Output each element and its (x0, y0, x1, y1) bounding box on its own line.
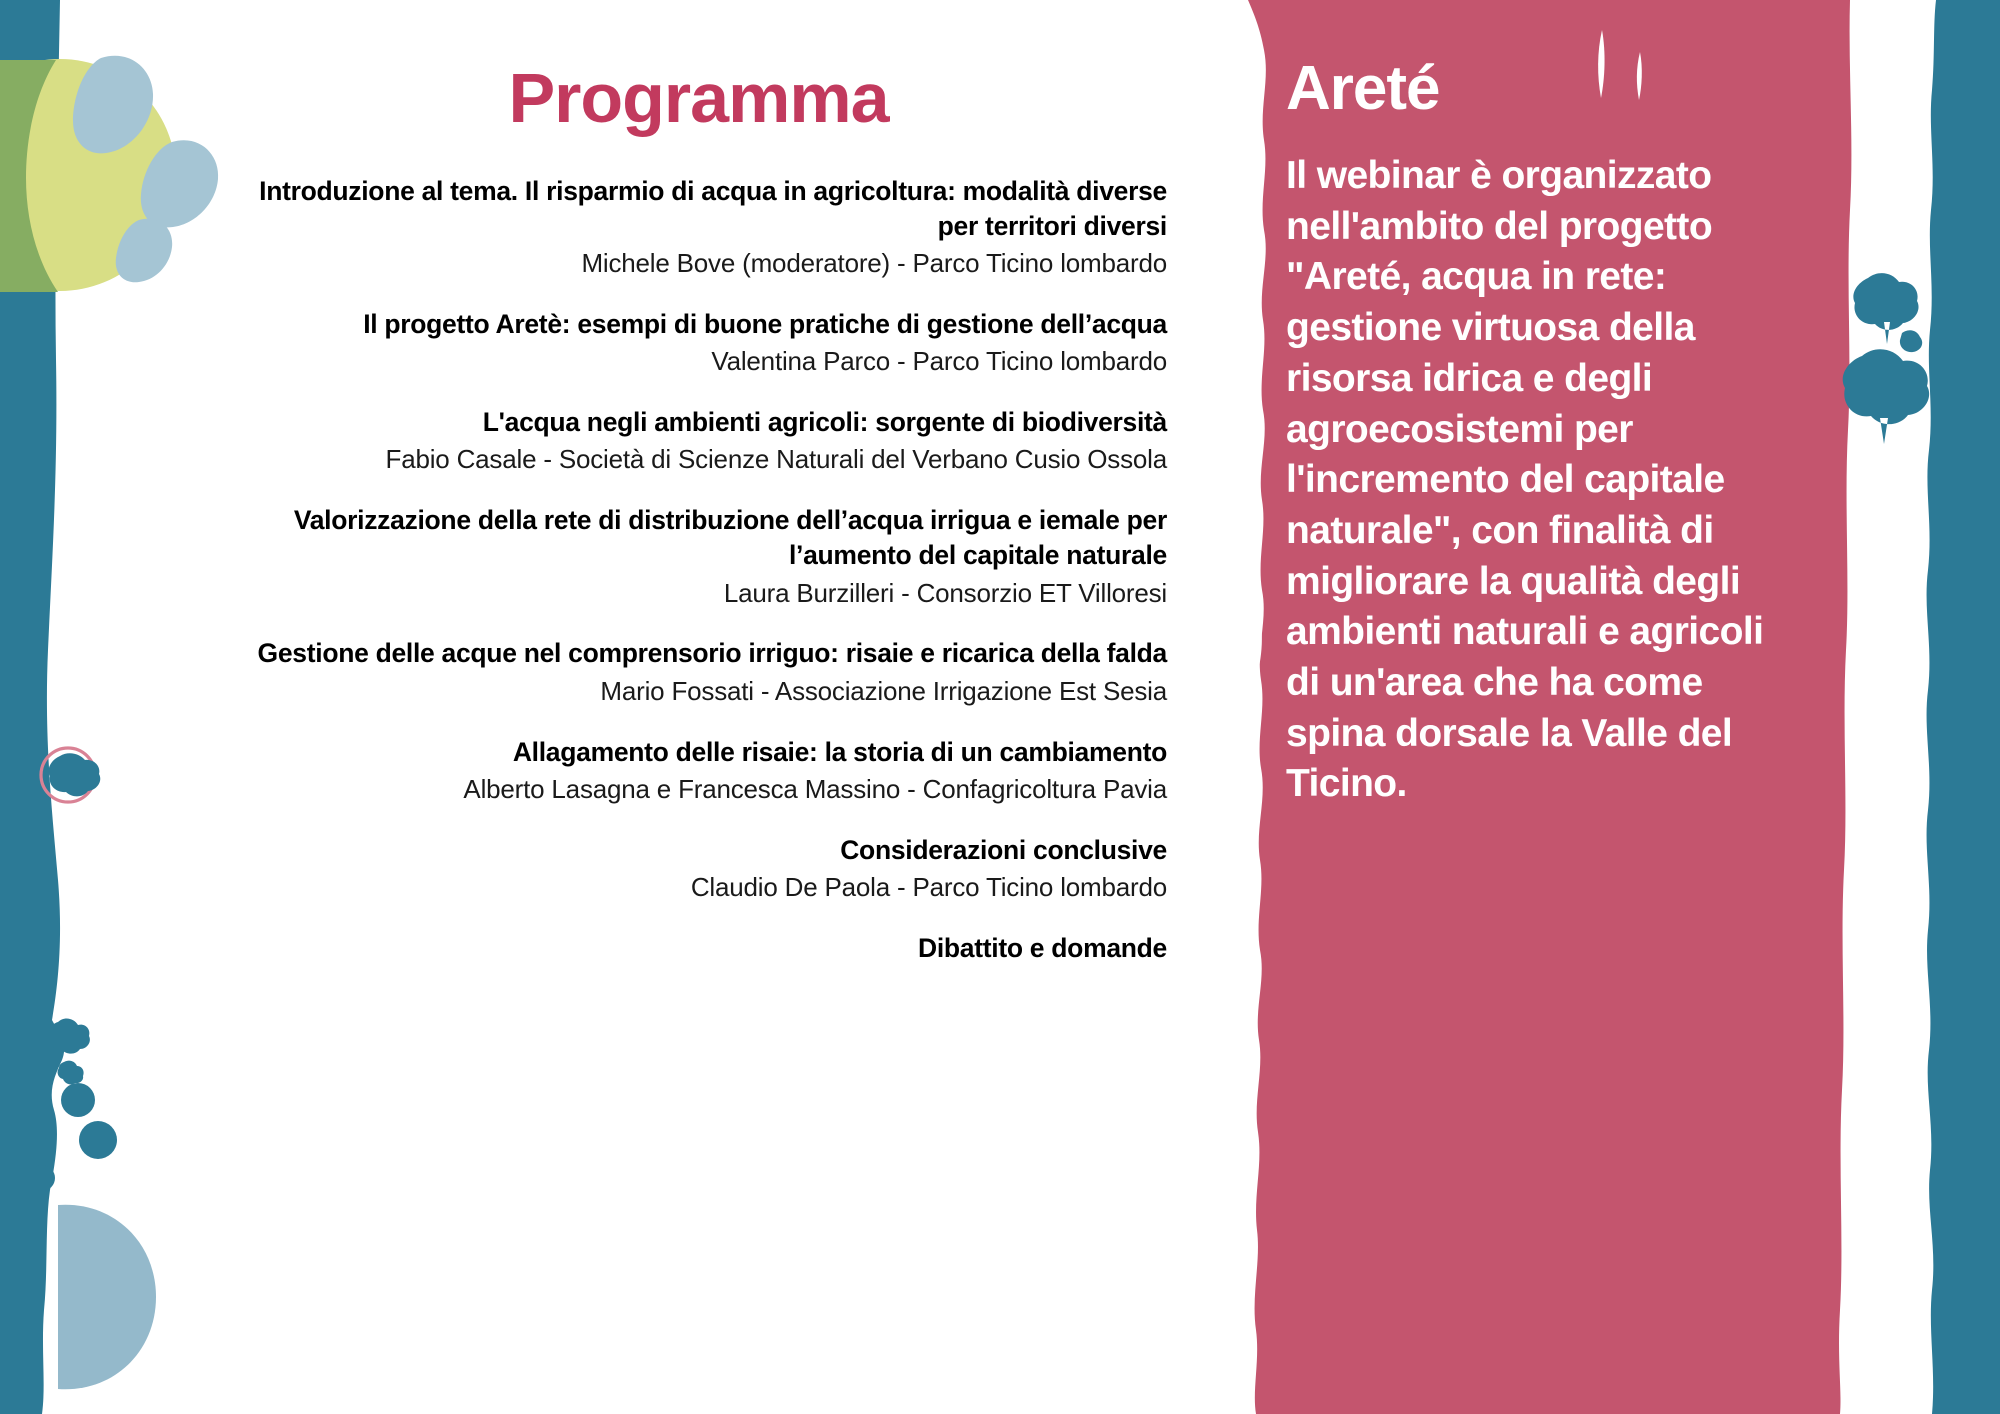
arete-description: Il webinar è organizzato nell'ambito del… (1286, 151, 1806, 810)
program-item-speaker: Laura Burzilleri - Consorzio ET Villores… (230, 576, 1167, 612)
program-item-speaker: Mario Fossati - Associazione Irrigazione… (230, 674, 1167, 710)
program-item: Gestione delle acque nel comprensorio ir… (230, 636, 1167, 709)
teal-right-brush-strip (1927, 0, 2000, 1414)
blue-half-circle (58, 1205, 156, 1390)
teardrop-lower-icon (116, 219, 172, 283)
programma-title: Programma (230, 0, 1225, 136)
program-item-title: Il progetto Aretè: esempi di buone prati… (230, 307, 1167, 342)
olive-overlap-wedge (0, 60, 58, 292)
program-item-title: Considerazioni conclusive (230, 833, 1167, 868)
program-item: Allagamento delle risaie: la storia di u… (230, 735, 1167, 808)
program-item: Considerazioni conclusive Claudio De Pao… (230, 833, 1167, 906)
program-item-title: Allagamento delle risaie: la storia di u… (230, 735, 1167, 770)
program-item-speaker: Claudio De Paola - Parco Ticino lombardo (230, 870, 1167, 906)
program-item-title: L'acqua negli ambienti agricoli: sorgent… (230, 405, 1167, 440)
programma-column: Programma Introduzione al tema. Il rispa… (230, 0, 1225, 1414)
program-item-speaker: Valentina Parco - Parco Ticino lombardo (230, 344, 1167, 380)
pink-ring-outline (41, 748, 95, 802)
program-item: Introduzione al tema. Il risparmio di ac… (230, 174, 1167, 282)
teardrop-middle-icon (141, 140, 218, 227)
program-item: Il progetto Aretè: esempi di buone prati… (230, 307, 1167, 380)
program-item: Valorizzazione della rete di distribuzio… (230, 503, 1167, 611)
arete-title: Areté (1286, 56, 1806, 121)
teardrop-upper-icon (73, 56, 153, 154)
teal-left-brush-strip (0, 0, 64, 1414)
program-item: L'acqua negli ambienti agricoli: sorgent… (230, 405, 1167, 478)
arete-panel: Areté Il webinar è organizzato nell'ambi… (1230, 0, 1870, 1414)
program-item-title: Dibattito e domande (230, 931, 1167, 966)
program-item-title: Introduzione al tema. Il risparmio di ac… (230, 174, 1167, 244)
program-item-title: Valorizzazione della rete di distribuzio… (230, 503, 1167, 573)
program-item-speaker: Fabio Casale - Società di Scienze Natura… (230, 442, 1167, 478)
programma-list: Introduzione al tema. Il risparmio di ac… (230, 174, 1225, 966)
right-teal-edge-group (1840, 0, 2000, 1414)
poster-canvas: Programma Introduzione al tema. Il rispa… (0, 0, 2000, 1414)
program-item: Dibattito e domande (230, 931, 1167, 966)
teal-ink-blot-lower (1843, 330, 1929, 444)
yellow-green-circle (0, 59, 176, 291)
program-item-speaker: Alberto Lasagna e Francesca Massino - Co… (230, 772, 1167, 808)
program-item-title: Gestione delle acque nel comprensorio ir… (230, 636, 1167, 671)
arete-content: Areté Il webinar è organizzato nell'ambi… (1286, 56, 1806, 810)
teal-ink-blot-ringed (49, 753, 101, 796)
program-item-speaker: Michele Bove (moderatore) - Parco Ticino… (230, 246, 1167, 282)
